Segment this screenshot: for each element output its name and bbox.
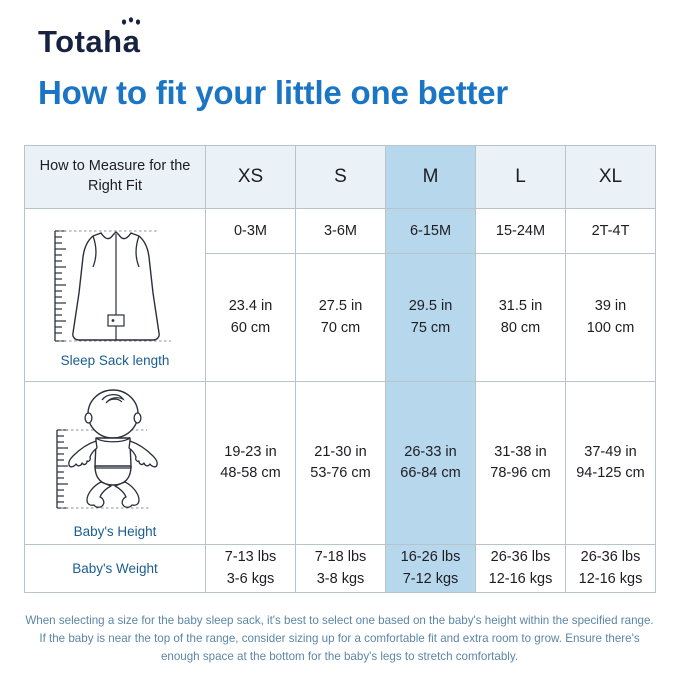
age-value-s: 3-6M (296, 209, 386, 254)
weight-value-s: 7-18 lbs 3-8 kgs (296, 545, 386, 593)
sleep-sack-illustration-cell: Sleep Sack length (25, 209, 206, 382)
length-value-m: 29.5 in 75 cm (386, 254, 476, 382)
length-in-s: 27.5 in (296, 296, 385, 317)
page-title: How to fit your little one better (38, 74, 508, 112)
weight-lbs-l: 26-36 lbs (476, 547, 565, 568)
age-value-xs: 0-3M (206, 209, 296, 254)
baby-height-label: Baby's Height (74, 524, 157, 539)
sizing-note: When selecting a size for the baby sleep… (22, 612, 657, 666)
length-value-l: 31.5 in 80 cm (476, 254, 566, 382)
age-value-l: 15-24M (476, 209, 566, 254)
length-in-xl: 39 in (566, 296, 655, 317)
baby-icon (39, 388, 191, 520)
weight-value-xl: 26-36 lbs 12-16 kgs (566, 545, 656, 593)
paw-dots-icon (120, 17, 142, 26)
length-in-xs: 23.4 in (206, 296, 295, 317)
length-value-s: 27.5 in 70 cm (296, 254, 386, 382)
height-in-m: 26-33 in (386, 442, 475, 463)
length-value-xl: 39 in 100 cm (566, 254, 656, 382)
baby-weight-label: Baby's Weight (25, 545, 206, 593)
size-header-xs[interactable]: XS (206, 146, 296, 209)
sleep-sack-icon (39, 223, 191, 349)
height-in-xl: 37-49 in (566, 442, 655, 463)
size-header-s[interactable]: S (296, 146, 386, 209)
weight-kgs-s: 3-8 kgs (296, 569, 385, 590)
length-cm-s: 70 cm (296, 318, 385, 339)
height-cm-s: 53-76 cm (296, 463, 385, 484)
height-in-s: 21-30 in (296, 442, 385, 463)
height-value-xl: 37-49 in 94-125 cm (566, 382, 656, 545)
length-cm-m: 75 cm (386, 318, 475, 339)
size-guide-page: Totaha How to fit your little one better… (0, 0, 679, 679)
weight-lbs-s: 7-18 lbs (296, 547, 385, 568)
height-in-l: 31-38 in (476, 442, 565, 463)
size-header-xl[interactable]: XL (566, 146, 656, 209)
weight-kgs-m: 7-12 kgs (386, 569, 475, 590)
baby-illustration-cell: Baby's Height (25, 382, 206, 545)
measure-corner-label: How to Measure for the Right Fit (25, 146, 206, 209)
weight-lbs-xs: 7-13 lbs (206, 547, 295, 568)
weight-kgs-xl: 12-16 kgs (566, 569, 655, 590)
table-row-baby-weight: Baby's Weight 7-13 lbs 3-6 kgs 7-18 lbs … (25, 545, 656, 593)
brand-umlaut-letter-wrap: a (123, 26, 141, 57)
height-value-m: 26-33 in 66-84 cm (386, 382, 476, 545)
weight-lbs-m: 16-26 lbs (386, 547, 475, 568)
height-value-l: 31-38 in 78-96 cm (476, 382, 566, 545)
sizing-note-line-1: When selecting a size for the baby sleep… (25, 614, 617, 627)
size-chart-table: How to Measure for the Right Fit XS S M … (24, 145, 656, 593)
sleep-sack-label: Sleep Sack length (61, 353, 170, 368)
size-header-m[interactable]: M (386, 146, 476, 209)
brand-name-main: Totah (38, 24, 123, 59)
weight-value-l: 26-36 lbs 12-16 kgs (476, 545, 566, 593)
size-header-l[interactable]: L (476, 146, 566, 209)
length-in-l: 31.5 in (476, 296, 565, 317)
table-row-baby-height: Baby's Height 19-23 in 48-58 cm 21-30 in… (25, 382, 656, 545)
height-cm-xs: 48-58 cm (206, 463, 295, 484)
brand-umlaut-letter: a (123, 24, 141, 59)
length-cm-xl: 100 cm (566, 318, 655, 339)
height-value-s: 21-30 in 53-76 cm (296, 382, 386, 545)
weight-lbs-xl: 26-36 lbs (566, 547, 655, 568)
length-in-m: 29.5 in (386, 296, 475, 317)
brand-logo: Totaha (38, 26, 140, 57)
table-row-age: Sleep Sack length 0-3M 3-6M 6-15M 15-24M… (25, 209, 656, 254)
age-value-m: 6-15M (386, 209, 476, 254)
length-value-xs: 23.4 in 60 cm (206, 254, 296, 382)
length-cm-l: 80 cm (476, 318, 565, 339)
height-cm-l: 78-96 cm (476, 463, 565, 484)
height-in-xs: 19-23 in (206, 442, 295, 463)
age-value-xl: 2T-4T (566, 209, 656, 254)
weight-value-xs: 7-13 lbs 3-6 kgs (206, 545, 296, 593)
table-header-row: How to Measure for the Right Fit XS S M … (25, 146, 656, 209)
weight-value-m: 16-26 lbs 7-12 kgs (386, 545, 476, 593)
height-value-xs: 19-23 in 48-58 cm (206, 382, 296, 545)
height-cm-xl: 94-125 cm (566, 463, 655, 484)
height-cm-m: 66-84 cm (386, 463, 475, 484)
weight-kgs-l: 12-16 kgs (476, 569, 565, 590)
weight-kgs-xs: 3-6 kgs (206, 569, 295, 590)
length-cm-xs: 60 cm (206, 318, 295, 339)
